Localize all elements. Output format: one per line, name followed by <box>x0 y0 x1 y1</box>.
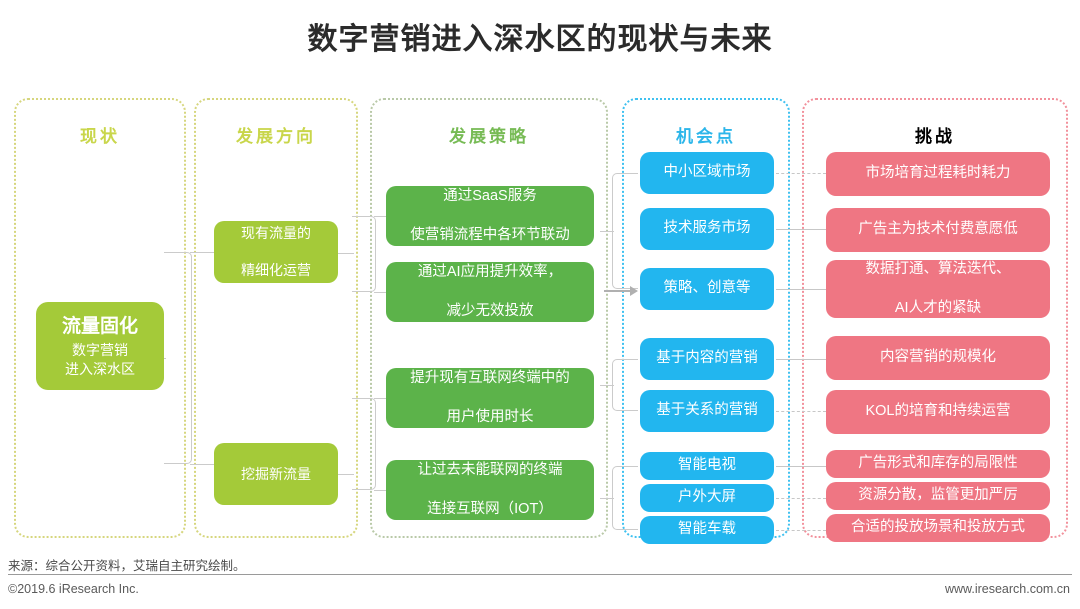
opportunity-node-8[interactable]: 智能车载 <box>640 516 774 544</box>
connector-stem-dir2 <box>338 474 354 475</box>
challenge-4-label: 内容营销的规模化 <box>832 348 1044 367</box>
connector-opp4-chal4 <box>776 359 826 360</box>
direction-node-2[interactable]: 挖掘新流量 <box>214 443 338 505</box>
challenge-5-label: KOL的培育和持续运营 <box>832 402 1044 421</box>
connector-bracket-dir1 <box>352 216 376 292</box>
column-header-opportunity: 机会点 <box>624 122 788 147</box>
direction-1-line1: 现有流量的 <box>220 224 332 242</box>
challenge-1-label: 市场培育过程耗时耗力 <box>832 164 1044 183</box>
connector-root-to-dir1 <box>190 252 216 253</box>
challenge-node-2[interactable]: 广告主为技术付费意愿低 <box>826 208 1050 252</box>
challenge-7-label: 资源分散，监管更加严厉 <box>832 486 1044 505</box>
opportunity-7-label: 户外大屏 <box>646 488 768 507</box>
connector-opp7-chal7 <box>776 498 826 499</box>
opportunity-5-label: 基于关系的营销 <box>646 401 768 420</box>
direction-node-1[interactable]: 现有流量的 精细化运营 <box>214 221 338 283</box>
strategy-node-3[interactable]: 提升现有互联网终端中的 用户使用时长 <box>386 368 594 428</box>
opportunity-1-label: 中小区域市场 <box>646 163 768 182</box>
strategy-node-1[interactable]: 通过SaaS服务 使营销流程中各环节联动 <box>386 186 594 246</box>
opportunity-6-label: 智能电视 <box>646 456 768 475</box>
challenge-node-4[interactable]: 内容营销的规模化 <box>826 336 1050 380</box>
column-header-current: 现状 <box>16 122 184 147</box>
copyright-text: ©2019.6 iResearch Inc. <box>8 582 139 596</box>
connector-bracket-dir2 <box>352 398 376 490</box>
infographic-page: 数字营销进入深水区的现状与未来 现状 发展方向 发展策略 机会点 挑战 <box>0 0 1080 609</box>
connector-opp2-chal2 <box>776 229 826 230</box>
connector-root-to-dir2 <box>190 464 216 465</box>
connector-opp5-chal5 <box>776 411 826 412</box>
page-title: 数字营销进入深水区的现状与未来 <box>0 14 1080 58</box>
challenge-node-7[interactable]: 资源分散，监管更加严厉 <box>826 482 1050 510</box>
footer-divider <box>8 574 1072 575</box>
challenge-3-line2: AI人才的紧缺 <box>832 299 1044 318</box>
challenge-node-5[interactable]: KOL的培育和持续运营 <box>826 390 1050 434</box>
connector-opp1-chal1 <box>776 173 826 174</box>
strategy-1-line1: 通过SaaS服务 <box>392 187 588 206</box>
strategy-3-line1: 提升现有互联网终端中的 <box>392 369 588 388</box>
connector-stem-opp-group1 <box>600 231 614 232</box>
connector-stem-opp-group2 <box>600 385 614 386</box>
root-node[interactable]: 流量固化 数字营销 进入深水区 <box>36 302 164 390</box>
opportunity-8-label: 智能车载 <box>646 520 768 539</box>
connector-bracket-root <box>164 252 192 464</box>
opportunity-node-2[interactable]: 技术服务市场 <box>640 208 774 250</box>
connector-bracket-opp-group2 <box>612 359 638 411</box>
challenge-3-line1: 数据打通、算法迭代、 <box>832 260 1044 279</box>
opportunity-node-6[interactable]: 智能电视 <box>640 452 774 480</box>
arrow-to-strategy-creative <box>604 284 638 296</box>
column-header-direction: 发展方向 <box>196 122 356 147</box>
column-header-strategy: 发展策略 <box>372 122 606 147</box>
connector-bracket-opp-group1 <box>612 173 638 289</box>
connector-stem-opp-group3 <box>600 498 614 499</box>
connector-opp8-chal8 <box>776 530 826 531</box>
direction-2-line1: 挖掘新流量 <box>220 465 332 483</box>
strategy-2-line1: 通过AI应用提升效率， <box>392 263 588 282</box>
strategy-4-line2: 连接互联网（IOT） <box>392 500 588 519</box>
challenge-8-label: 合适的投放场景和投放方式 <box>832 518 1044 537</box>
connector-bracket-opp-group3 <box>612 466 638 530</box>
opportunity-3-label: 策略、创意等 <box>646 279 768 298</box>
connector-opp3-chal3 <box>776 289 826 290</box>
root-title: 流量固化 <box>42 314 158 339</box>
opportunity-node-7[interactable]: 户外大屏 <box>640 484 774 512</box>
opportunity-node-3[interactable]: 策略、创意等 <box>640 268 774 310</box>
connector-stem-dir1 <box>338 253 354 254</box>
opportunity-node-4[interactable]: 基于内容的营销 <box>640 338 774 380</box>
strategy-1-line2: 使营销流程中各环节联动 <box>392 226 588 245</box>
website-link[interactable]: www.iresearch.com.cn <box>945 582 1070 596</box>
root-line1: 数字营销 <box>42 341 158 359</box>
source-note: 来源：综合公开资料，艾瑞自主研究绘制。 <box>8 555 246 574</box>
challenge-node-8[interactable]: 合适的投放场景和投放方式 <box>826 514 1050 542</box>
strategy-3-line2: 用户使用时长 <box>392 408 588 427</box>
challenge-6-label: 广告形式和库存的局限性 <box>832 454 1044 473</box>
connector-opp6-chal6 <box>776 466 826 467</box>
opportunity-2-label: 技术服务市场 <box>646 219 768 238</box>
challenge-2-label: 广告主为技术付费意愿低 <box>832 220 1044 239</box>
challenge-node-3[interactable]: 数据打通、算法迭代、 AI人才的紧缺 <box>826 260 1050 318</box>
strategy-node-2[interactable]: 通过AI应用提升效率， 减少无效投放 <box>386 262 594 322</box>
opportunity-node-1[interactable]: 中小区域市场 <box>640 152 774 194</box>
column-header-challenge: 挑战 <box>804 122 1066 147</box>
strategy-2-line2: 减少无效投放 <box>392 302 588 321</box>
opportunity-4-label: 基于内容的营销 <box>646 349 768 368</box>
direction-1-line2: 精细化运营 <box>220 261 332 279</box>
strategy-4-line1: 让过去未能联网的终端 <box>392 461 588 480</box>
challenge-node-6[interactable]: 广告形式和库存的局限性 <box>826 450 1050 478</box>
opportunity-node-5[interactable]: 基于关系的营销 <box>640 390 774 432</box>
challenge-node-1[interactable]: 市场培育过程耗时耗力 <box>826 152 1050 196</box>
root-line2: 进入深水区 <box>42 360 158 378</box>
strategy-node-4[interactable]: 让过去未能联网的终端 连接互联网（IOT） <box>386 460 594 520</box>
